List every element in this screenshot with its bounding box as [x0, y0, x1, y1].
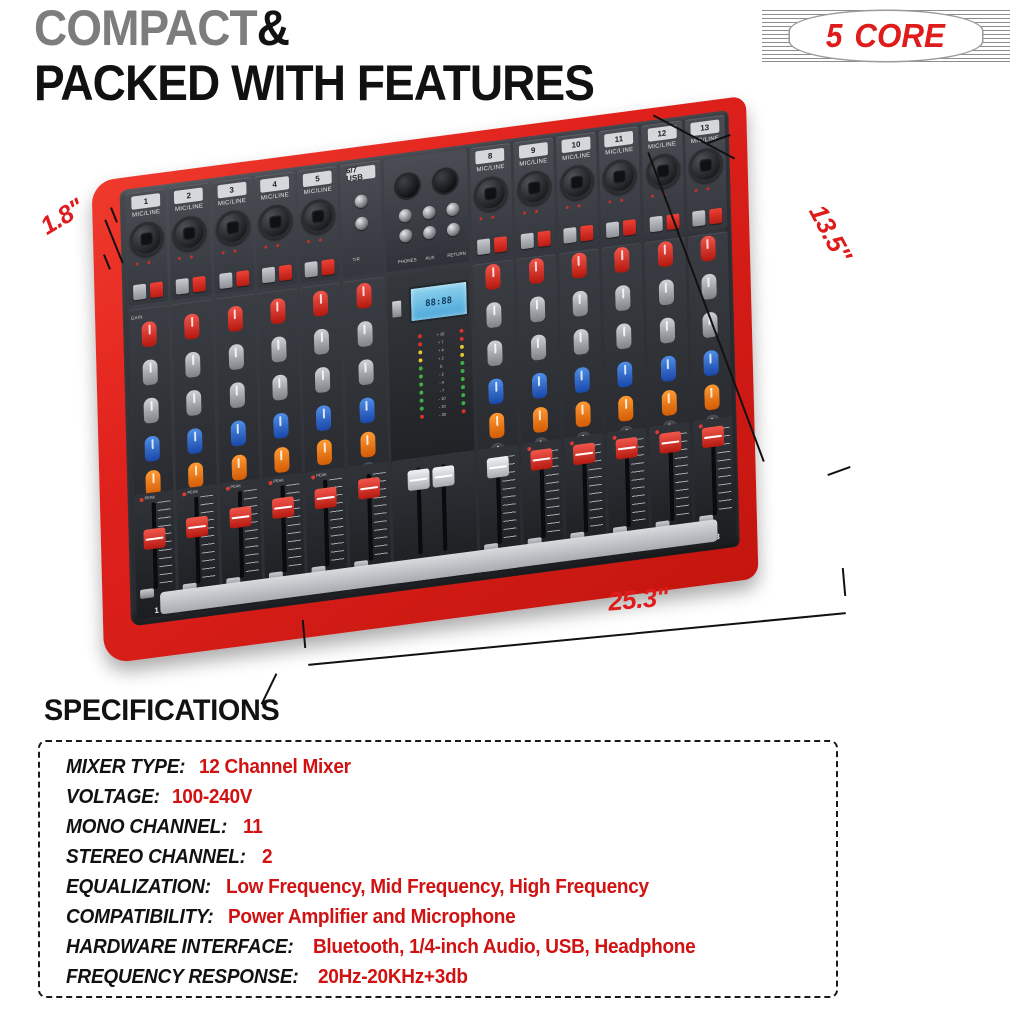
peak-label: PEAK [144, 494, 155, 500]
meter-tick: + 10 [436, 331, 444, 337]
phones-label: PHONES [398, 257, 417, 265]
fader-slot [195, 497, 201, 584]
specifications-title: SPECIFICATIONS [44, 694, 279, 728]
channel-head-2: 2 MIC/LINE [169, 183, 212, 301]
channel-number: 4 [260, 176, 289, 193]
high-eq-knob[interactable] [615, 284, 631, 311]
high-eq-knob[interactable] [271, 336, 287, 363]
mid-eq-knob[interactable] [659, 317, 675, 344]
trs-jack-left[interactable] [355, 194, 368, 209]
meter-tick: + 2 [438, 355, 444, 361]
led-level-meter: + 10 + 7 + 4 + 2 0 - 2 - 4 - 7 - 10 - 20… [418, 329, 466, 421]
xlr-combo-jack[interactable] [172, 214, 207, 253]
channel-head-13: 13 MIC/LINE [685, 115, 728, 233]
gain-knob[interactable] [227, 305, 243, 332]
signal-leds [523, 210, 538, 215]
channel-head-10: 10 MIC/LINE [556, 132, 599, 250]
mic-line-label: MIC/LINE [562, 152, 590, 162]
aux-knob[interactable] [145, 435, 161, 462]
pad-button[interactable] [262, 267, 275, 284]
signal-leds [135, 261, 150, 266]
gain-knob[interactable] [313, 290, 329, 317]
mic-line-label: MIC/LINE [304, 187, 332, 197]
headline-compact: COMPACT [34, 0, 257, 56]
channel-fader[interactable] [272, 496, 294, 519]
xlr-combo-jack[interactable] [603, 158, 638, 197]
aux-knob[interactable] [230, 420, 246, 447]
mid-eq-knob[interactable] [358, 359, 374, 386]
channel-head-8: 8 MIC/LINE [470, 143, 513, 261]
channel-number: 3 [217, 182, 246, 199]
aux-knob[interactable] [617, 361, 633, 388]
pad-phantom-buttons [262, 264, 292, 283]
spec-value: 2 [262, 846, 272, 869]
pad-phantom-buttons [176, 276, 206, 295]
return-jack-right[interactable] [399, 228, 412, 243]
pad-phantom-buttons [606, 219, 636, 238]
gain-label: GAIN [131, 314, 143, 321]
effect-knob[interactable] [188, 462, 204, 489]
phantom-power-button[interactable] [150, 281, 163, 298]
spec-label: MONO CHANNEL: [66, 816, 227, 839]
channel-fader[interactable] [229, 506, 251, 529]
spec-value: 20Hz-20KHz+3db [318, 966, 468, 989]
channel-head-12: 12 MIC/LINE [642, 120, 685, 238]
signal-leds [264, 244, 279, 249]
return-label: RETURN [447, 251, 466, 258]
logo-text: 5 CORE [762, 10, 1010, 62]
phantom-power-button[interactable] [580, 225, 593, 242]
fader-scale [201, 495, 216, 583]
channel-number: 9 [519, 142, 548, 159]
spec-label: STEREO CHANNEL: [66, 846, 246, 869]
spec-label: HARDWARE INTERFACE: [66, 936, 294, 959]
usb-port[interactable] [392, 300, 401, 317]
mp3-fader[interactable] [358, 477, 380, 500]
mid-eq-knob[interactable] [530, 334, 546, 361]
signal-leds [178, 255, 193, 260]
xlr-combo-jack[interactable] [474, 174, 509, 213]
high-eq-knob[interactable] [143, 359, 159, 386]
phantom-power-button[interactable] [236, 270, 249, 287]
peak-led [182, 492, 186, 497]
meter-tick: - 7 [439, 387, 444, 393]
peak-led [311, 475, 315, 480]
effect-knob[interactable] [360, 431, 376, 458]
spec-value: Bluetooth, 1/4-inch Audio, USB, Headphon… [313, 936, 695, 959]
spec-row-voltage: VOLTAGE: 100-240V [66, 786, 836, 816]
trs-jack-right[interactable] [355, 216, 368, 231]
channel-number: 13 [690, 119, 719, 136]
main-fader-right[interactable] [432, 465, 454, 488]
headline-line-2: PACKED WITH FEATURES [34, 59, 696, 108]
mic-line-label: MIC/LINE [605, 147, 633, 157]
channel-fader[interactable] [659, 431, 681, 454]
channel-head-5: 5 MIC/LINE [297, 166, 340, 284]
channel-fader[interactable] [144, 527, 166, 550]
master-io-block: PHONES AUX RETURN [383, 149, 470, 273]
tr-label: T/R [353, 256, 360, 262]
effect-knob[interactable] [532, 406, 548, 433]
logo-number: 5 [826, 17, 843, 55]
channel-fader[interactable] [530, 448, 552, 471]
channel-head-11: 11 MIC/LINE [599, 126, 642, 244]
aux-knob[interactable] [489, 378, 505, 405]
pad-button[interactable] [520, 233, 533, 250]
effect-knob[interactable] [231, 454, 247, 481]
pad-phantom-buttons [692, 208, 722, 227]
aux-knob[interactable] [273, 412, 289, 439]
mic-line-label: MIC/LINE [132, 209, 160, 219]
mid-eq-knob[interactable] [488, 340, 504, 367]
spec-row-mono-channel: MONO CHANNEL: 11 [66, 816, 836, 846]
mic-line-label: MIC/LINE [519, 158, 547, 168]
meter-tick: - 10 [439, 395, 446, 401]
mid-eq-knob[interactable] [272, 374, 288, 401]
headline-line-1: COMPACT& [34, 4, 696, 53]
spec-value: Power Amplifier and Microphone [228, 906, 515, 929]
gain-knob[interactable] [142, 321, 158, 348]
gain-knob[interactable] [614, 246, 630, 273]
channel-fader[interactable] [315, 486, 337, 509]
channel-fader[interactable] [186, 515, 208, 538]
effect-knob[interactable] [317, 439, 333, 466]
xlr-combo-jack[interactable] [560, 163, 595, 202]
pad-button[interactable] [563, 227, 576, 244]
gain-knob[interactable] [486, 263, 502, 290]
fader-slot [238, 491, 244, 578]
peak-led [140, 498, 144, 503]
mic-line-label: MIC/LINE [175, 203, 203, 213]
spec-label: MIXER TYPE: [66, 756, 185, 779]
signal-leds [307, 238, 322, 243]
spec-row-hardware-interface: HARDWARE INTERFACE: Bluetooth, 1/4-inch … [66, 936, 836, 966]
pad-button[interactable] [649, 216, 662, 233]
main-out-xlr-right[interactable] [431, 166, 458, 197]
signal-leds [608, 199, 623, 204]
effect-knob[interactable] [661, 389, 677, 416]
channel-number: 1 [131, 193, 160, 210]
gain-knob[interactable] [700, 235, 716, 262]
signal-leds [694, 187, 709, 192]
mid-eq-knob[interactable] [616, 323, 632, 350]
main-fader-left[interactable] [407, 468, 429, 491]
channel-head-9: 9 MIC/LINE [513, 137, 556, 255]
effect-knob[interactable] [575, 401, 591, 428]
record-jack[interactable] [446, 222, 459, 237]
channel-number: 8 [476, 148, 505, 165]
gain-knob[interactable] [657, 241, 673, 268]
pad-phantom-buttons [133, 281, 163, 300]
high-eq-knob[interactable] [228, 343, 244, 370]
mid-eq-knob[interactable] [315, 366, 331, 393]
xlr-combo-jack[interactable] [215, 208, 250, 247]
brand-logo: 5 CORE [762, 10, 1010, 62]
phantom-power-button[interactable] [193, 276, 206, 293]
signal-leds [566, 204, 581, 209]
width-dimension-label: 25.3" [607, 581, 670, 617]
gain-knob[interactable] [571, 252, 587, 279]
pad-button[interactable] [692, 210, 705, 227]
meter-tick: - 30 [439, 411, 446, 417]
channel-number: 11 [604, 131, 633, 148]
aux-knob[interactable] [660, 355, 676, 382]
spec-row-equalization: EQUALIZATION: Low Frequency, Mid Frequen… [66, 876, 836, 906]
phantom-power-button[interactable] [494, 236, 507, 253]
peak-label: PEAK [187, 489, 198, 495]
high-eq-knob[interactable] [572, 290, 588, 317]
spec-label: EQUALIZATION: [66, 876, 211, 899]
phones-jack[interactable] [398, 208, 411, 223]
phantom-power-button[interactable] [322, 259, 335, 276]
peak-led [268, 481, 272, 486]
aux-knob[interactable] [316, 404, 332, 431]
aux-knob[interactable] [187, 427, 203, 454]
effect-knob[interactable] [704, 384, 720, 411]
high-eq-knob[interactable] [314, 328, 330, 355]
pad-button[interactable] [133, 284, 146, 301]
spec-value: 11 [243, 816, 263, 839]
mid-eq-knob[interactable] [186, 389, 202, 416]
pad-button[interactable] [606, 221, 619, 238]
meter-tick: + 7 [438, 339, 444, 345]
mic-line-label: MIC/LINE [648, 141, 676, 151]
channel-number: 5 [303, 170, 332, 187]
mic-line-label: MIC/LINE [218, 198, 246, 208]
mid-eq-knob[interactable] [573, 328, 589, 355]
spec-row-compatibility: COMPATIBILITY: Power Amplifier and Micro… [66, 906, 836, 936]
pad-button[interactable] [477, 238, 490, 255]
gain-knob[interactable] [528, 258, 544, 285]
meter-tick: 0 [440, 363, 442, 368]
spec-value: Low Frequency, Mid Frequency, High Frequ… [226, 876, 649, 899]
channel-head-6-7-usb: 6/7 USB T/R [340, 160, 383, 278]
mid-eq-knob[interactable] [229, 382, 245, 409]
return-jack-left[interactable] [446, 202, 459, 217]
lcd-display: 88:88 [408, 280, 468, 324]
phantom-power-button[interactable] [279, 264, 292, 281]
pad-button[interactable] [305, 261, 318, 278]
spec-row-frequency-response: FREQUENCY RESPONSE: 20Hz-20KHz+3db [66, 966, 836, 996]
channel-fader[interactable] [702, 425, 724, 448]
xlr-combo-jack[interactable] [688, 146, 723, 185]
spec-label: COMPATIBILITY: [66, 906, 214, 929]
xlr-combo-jack[interactable] [258, 203, 293, 242]
mic-line-label: MIC/LINE [261, 192, 289, 202]
specifications-box: MIXER TYPE: 12 Channel Mixer VOLTAGE: 10… [38, 740, 838, 998]
pad-phantom-buttons [219, 270, 249, 289]
xlr-combo-jack[interactable] [301, 197, 336, 236]
high-eq-knob[interactable] [487, 301, 503, 328]
headline-ampersand: & [257, 0, 289, 56]
channel-head-3: 3 MIC/LINE [211, 177, 254, 295]
signal-leds [480, 216, 495, 221]
channel-head-4: 4 MIC/LINE [254, 171, 297, 289]
high-eq-knob[interactable] [658, 279, 674, 306]
channel-number: 12 [647, 125, 676, 142]
pad-phantom-buttons [520, 230, 550, 249]
channel-head-1: 1 MIC/LINE [126, 188, 169, 306]
effect-knob[interactable] [274, 446, 290, 473]
signal-leds [221, 250, 236, 255]
insert-jack[interactable] [423, 225, 436, 240]
mic-line-label: MIC/LINE [476, 164, 504, 174]
pad-button[interactable] [219, 272, 232, 289]
spec-value: 12 Channel Mixer [199, 756, 351, 779]
aux-label: AUX [425, 255, 434, 261]
pfl-button[interactable] [140, 588, 154, 599]
channel-number: 6/7 USB [346, 165, 375, 182]
phantom-power-button[interactable] [623, 219, 636, 236]
effect-knob[interactable] [618, 395, 634, 422]
spec-row-stereo-channel: STEREO CHANNEL: 2 [66, 846, 836, 876]
spec-label: FREQUENCY RESPONSE: [66, 966, 299, 989]
xlr-combo-jack[interactable] [517, 169, 552, 208]
peak-led [225, 486, 229, 491]
channel-fader[interactable] [573, 442, 595, 465]
phantom-power-button[interactable] [537, 230, 550, 247]
peak-label: PEAK [273, 477, 284, 483]
gain-knob[interactable] [356, 282, 372, 309]
meter-tick: - 20 [439, 403, 446, 409]
effect-knob[interactable] [489, 412, 505, 439]
product-photo: 1 MIC/LINE 2 MIC/LINE [0, 120, 1024, 685]
aux-knob[interactable] [703, 349, 719, 376]
headline-block: COMPACT& PACKED WITH FEATURES [34, 4, 754, 107]
aux-jack[interactable] [422, 205, 435, 220]
meter-tick: - 2 [439, 371, 444, 377]
pad-phantom-buttons [563, 225, 593, 244]
gain-knob[interactable] [184, 313, 200, 340]
aux-knob[interactable] [574, 366, 590, 393]
high-eq-knob[interactable] [529, 296, 545, 323]
fader-number: 1 [154, 606, 159, 616]
lcd-readout: 88:88 [411, 294, 467, 311]
mixer-top-panel: 1 MIC/LINE 2 MIC/LINE [120, 110, 740, 626]
high-eq-knob[interactable] [701, 273, 717, 300]
aux-knob[interactable] [531, 372, 547, 399]
spec-row-mixer-type: MIXER TYPE: 12 Channel Mixer [66, 756, 836, 786]
peak-label: PEAK [316, 472, 327, 478]
high-eq-knob[interactable] [185, 351, 201, 378]
fader-scale [244, 489, 259, 577]
channel-fader[interactable] [616, 437, 638, 460]
meter-tick: + 4 [438, 347, 444, 353]
pad-phantom-buttons [305, 259, 335, 278]
peak-label: PEAK [230, 483, 241, 489]
main-out-xlr-left[interactable] [393, 171, 420, 202]
high-eq-knob[interactable] [357, 320, 373, 347]
spec-value: 100-240V [172, 786, 252, 809]
pad-phantom-buttons [477, 236, 507, 255]
gain-knob[interactable] [270, 298, 286, 325]
channel-number: 2 [174, 187, 203, 204]
channel-number: 10 [561, 136, 590, 153]
mid-eq-knob[interactable] [144, 397, 160, 424]
logo-word: CORE [854, 17, 945, 55]
xlr-combo-jack[interactable] [130, 220, 165, 259]
meter-tick: - 4 [439, 379, 444, 385]
spec-label: VOLTAGE: [66, 786, 160, 809]
pad-button[interactable] [176, 278, 189, 295]
phantom-power-button[interactable] [709, 208, 722, 225]
aux-knob[interactable] [359, 397, 375, 424]
effect-fader[interactable] [487, 456, 509, 479]
